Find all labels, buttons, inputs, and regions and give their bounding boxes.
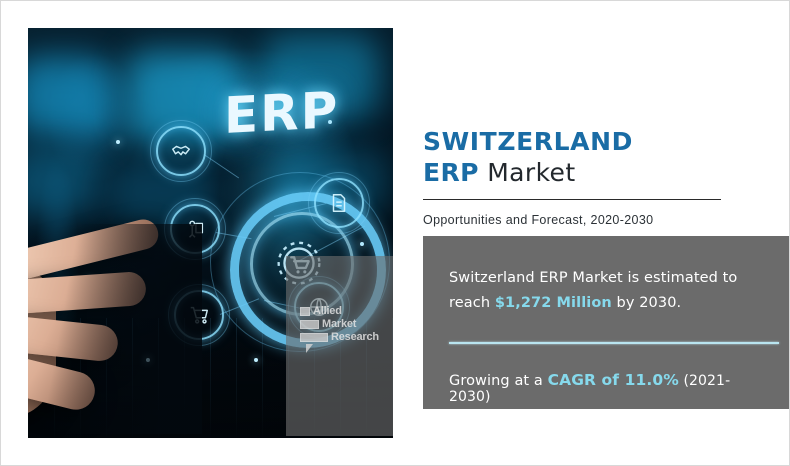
report-subtitle: Opportunities and Forecast, 2020-2030 xyxy=(423,213,771,227)
amr-row-research: Research xyxy=(300,332,386,343)
document-icon xyxy=(328,192,350,214)
handshake-icon xyxy=(170,140,192,162)
allied-market-research-watermark: Allied Market Research xyxy=(300,306,386,353)
pointing-hand xyxy=(28,224,202,434)
bokeh-light-1 xyxy=(28,56,114,136)
amr-label-allied: Allied xyxy=(313,306,342,317)
amr-bubble-tail xyxy=(306,344,313,353)
market-value-statement: Switzerland ERP Market is estimated to r… xyxy=(449,266,765,316)
glow-dot-6 xyxy=(254,358,258,362)
hand-index-finger xyxy=(28,216,161,281)
cagr-value-highlight: CAGR of 11.0% xyxy=(548,371,679,389)
erp-wordmark: ERP xyxy=(224,81,339,145)
page-title-country: SWITZERLAND xyxy=(423,127,771,157)
hand-middle-finger xyxy=(28,271,147,315)
amr-label-research: Research xyxy=(331,332,379,343)
report-header-block: SWITZERLAND ERP Market Opportunities and… xyxy=(423,127,771,227)
market-stats-panel: Switzerland ERP Market is estimated to r… xyxy=(423,236,790,409)
page-title-market: ERP Market xyxy=(423,157,771,189)
panel-divider xyxy=(449,342,779,344)
cagr-statement: Growing at a CAGR of 11.0% (2021-2030) xyxy=(449,371,765,405)
cagr-prefix-text: Growing at a xyxy=(449,373,548,389)
amr-logo-bubble: Allied Market Research xyxy=(300,306,386,353)
bokeh-light-4 xyxy=(28,146,98,216)
hero-image: ERP xyxy=(28,28,393,438)
page-title-rest: Market xyxy=(479,158,576,187)
amr-row-market: Market xyxy=(300,319,386,330)
amr-bar-small xyxy=(300,307,310,316)
market-report-banner: ERP xyxy=(0,0,790,466)
document-node xyxy=(314,178,364,228)
amr-row-allied: Allied xyxy=(300,306,386,317)
stat-suffix-text: by 2030. xyxy=(612,295,681,311)
amr-bar-large xyxy=(300,333,328,342)
stat-value-highlight: $1,272 Million xyxy=(495,295,612,311)
amr-bar-medium xyxy=(300,320,319,329)
title-divider xyxy=(423,199,721,200)
glow-dot-1 xyxy=(116,140,120,144)
handshake-node xyxy=(156,126,206,176)
amr-label-market: Market xyxy=(322,319,356,330)
page-title-accent: ERP xyxy=(423,158,479,187)
